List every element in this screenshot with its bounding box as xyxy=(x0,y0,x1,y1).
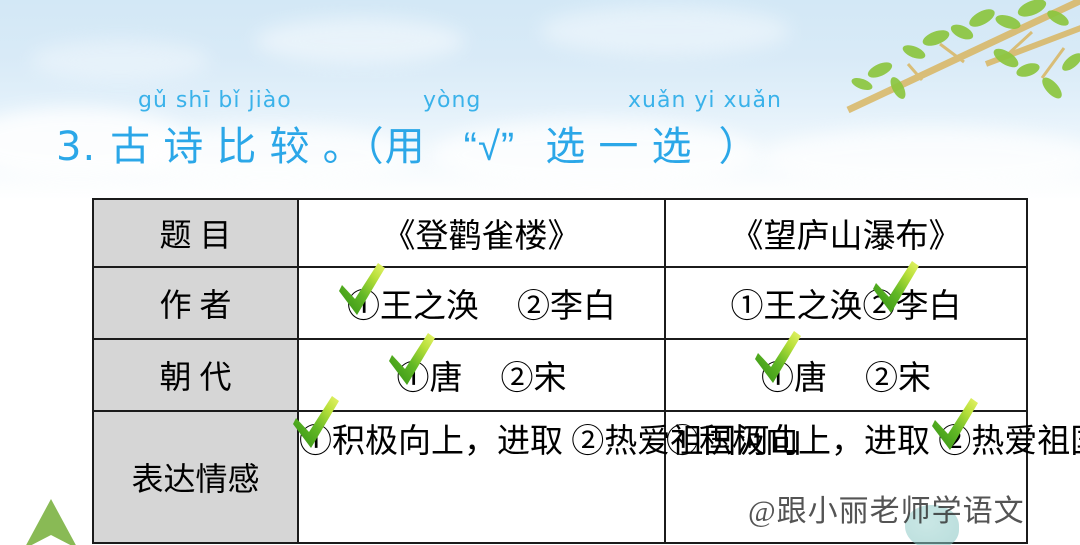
option-2[interactable]: ②宋 xyxy=(501,351,567,399)
page-title: 3.古 诗 比 较 。（用“√”选 一 选） xyxy=(56,114,759,172)
option-1[interactable]: ①王之涣 xyxy=(347,279,479,327)
option-1[interactable]: ①积极向上，进取 xyxy=(666,416,930,469)
cloud-shape xyxy=(255,18,465,64)
quote-open: “ xyxy=(464,125,478,169)
option-1-label: ①唐 xyxy=(761,361,827,397)
option-2[interactable]: ②李白 xyxy=(517,279,616,327)
question-number: 3. xyxy=(56,124,96,170)
row-label-dynasty: 朝 代 xyxy=(93,339,298,411)
option-group: ①王之涣 xyxy=(666,268,1026,338)
paren-open: （ xyxy=(364,125,385,169)
option-2-label: ②热爱祖国河山 xyxy=(938,424,1080,460)
watermark-text: @跟小丽老师学语文 xyxy=(748,486,1025,530)
author-options-poem-a[interactable]: ①王之涣 ②李白 xyxy=(298,267,665,339)
poem-a-title: 《登鹳雀楼》 xyxy=(298,199,665,267)
option-1[interactable]: ①王之涣 xyxy=(731,279,863,327)
option-group: ①积极向上，进取 ②热爱祖国河山 xyxy=(299,408,664,545)
option-group: ①王之涣 ②李白 xyxy=(299,268,664,338)
cloud-shape xyxy=(30,40,210,80)
option-1[interactable]: ①唐 xyxy=(397,351,463,399)
leaf-decoration xyxy=(16,495,86,545)
exercise-heading: gǔ shī bǐ jiào yòng xuǎn yi xuǎn 3.古 诗 比… xyxy=(0,88,1080,168)
option-2-label: ②李白 xyxy=(863,289,962,325)
instruction-choose: 选 一 选 xyxy=(545,125,692,169)
title-main-text: 古 诗 比 较 。 xyxy=(110,125,363,169)
option-1-label: ①王之涣 xyxy=(347,289,479,325)
option-1[interactable]: ①唐 xyxy=(761,351,827,399)
table-row: 题 目 《登鹳雀楼》 《望庐山瀑布》 xyxy=(93,199,1027,267)
paren-close: ） xyxy=(718,125,759,169)
row-label-title: 题 目 xyxy=(93,199,298,267)
option-2-label: ②宋 xyxy=(501,361,567,397)
author-options-poem-b[interactable]: ①王之涣 xyxy=(665,267,1027,339)
dynasty-options-poem-b[interactable]: ①唐 ②宋 xyxy=(665,339,1027,411)
option-1-label: ①积极向上，进取 xyxy=(666,424,930,460)
pinyin-yong: yòng xyxy=(423,88,481,113)
emotion-options-poem-a[interactable]: ①积极向上，进取 ②热爱祖国河山 xyxy=(298,411,665,543)
check-symbol-glyph: √ xyxy=(478,125,501,169)
option-group: ①唐 ②宋 xyxy=(666,340,1026,410)
pinyin-gushi-bijiao: gǔ shī bǐ jiào xyxy=(138,88,292,113)
row-label-author: 作 者 xyxy=(93,267,298,339)
poem-b-title: 《望庐山瀑布》 xyxy=(665,199,1027,267)
table-row: 朝 代 xyxy=(93,339,1027,411)
table-row: 作 者 xyxy=(93,267,1027,339)
quote-close: ” xyxy=(501,125,515,169)
pinyin-xuan-yi-xuan: xuǎn yi xuǎn xyxy=(628,88,782,113)
dynasty-options-poem-a[interactable]: ①唐 ②宋 xyxy=(298,339,665,411)
option-2[interactable]: ②李白 xyxy=(863,279,962,327)
option-2[interactable]: ②宋 xyxy=(865,351,931,399)
option-1[interactable]: ①积极向上，进取 xyxy=(299,416,563,469)
option-1-label: ①王之涣 xyxy=(731,289,863,325)
cloud-shape xyxy=(540,6,790,56)
row-label-emotion: 表达情感 xyxy=(93,411,298,543)
option-group: ①唐 ②宋 xyxy=(299,340,664,410)
option-2-label: ②宋 xyxy=(865,361,931,397)
option-1-label: ①积极向上，进取 xyxy=(299,424,563,460)
instruction-use: 用 xyxy=(385,125,426,169)
option-1-label: ①唐 xyxy=(397,361,463,397)
option-2[interactable]: ②热爱祖国河山 xyxy=(938,416,1080,469)
option-2-label: ②李白 xyxy=(517,289,616,325)
slide-canvas: gǔ shī bǐ jiào yòng xuǎn yi xuǎn 3.古 诗 比… xyxy=(0,0,1080,545)
